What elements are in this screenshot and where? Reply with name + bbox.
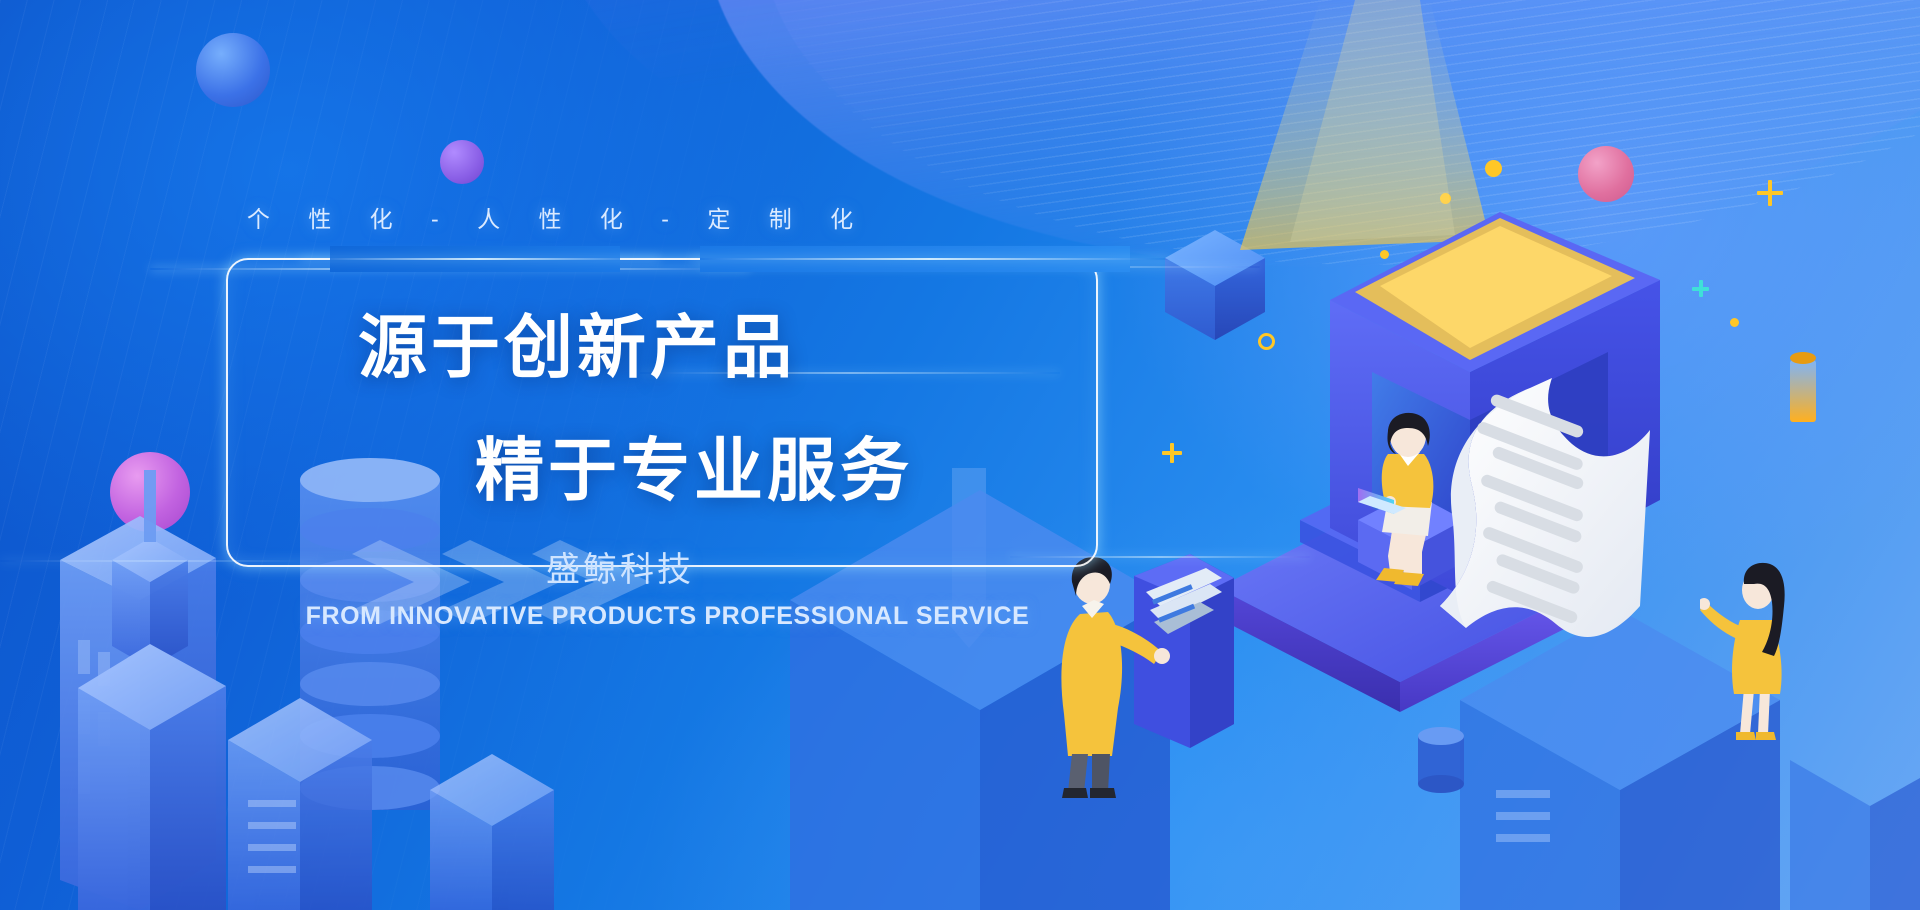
brand-name: 盛鲸科技 bbox=[546, 542, 694, 591]
yellow-ring-icon bbox=[1258, 333, 1275, 350]
yellow-dot-1 bbox=[1485, 160, 1502, 177]
frame-top-glow-right bbox=[690, 258, 1170, 260]
yellow-dot-4 bbox=[1640, 345, 1654, 359]
receipt-text-lines bbox=[1466, 392, 1656, 642]
yellow-dot-2 bbox=[1440, 193, 1451, 204]
yellow-dot-5 bbox=[1730, 318, 1739, 327]
frame-top-glow-left bbox=[300, 258, 660, 260]
yellow-dot-3 bbox=[1380, 250, 1389, 259]
gradient-sphere-pink bbox=[1578, 146, 1634, 202]
gradient-sphere-top bbox=[196, 33, 270, 107]
headline-line-2: 精于专业服务 bbox=[475, 414, 913, 514]
yellow-tube-top bbox=[1790, 352, 1816, 364]
yellow-tube-shape bbox=[1790, 360, 1816, 422]
headline-line-1: 源于创新产品 bbox=[358, 291, 796, 391]
gradient-sphere-violet bbox=[440, 140, 484, 184]
yellow-plus-icon-1 bbox=[1162, 443, 1182, 463]
standing-woman-pointing bbox=[1700, 560, 1820, 750]
gradient-sphere-magenta bbox=[110, 452, 190, 532]
yellow-plus-icon-2 bbox=[1757, 180, 1783, 206]
seated-woman-with-laptop bbox=[1336, 410, 1476, 590]
tagline: 个 性 化 - 人 性 化 - 定 制 化 bbox=[0, 200, 1100, 234]
man-at-kiosk bbox=[1038, 548, 1258, 798]
english-subtitle: FROM INNOVATIVE PRODUCTS PROFESSIONAL SE… bbox=[0, 602, 1335, 631]
hero-banner: 个 性 化 - 人 性 化 - 定 制 化 源于创新产品 精于专业服务 盛鲸科技… bbox=[0, 0, 1920, 910]
cyan-plus-icon bbox=[1692, 280, 1709, 297]
